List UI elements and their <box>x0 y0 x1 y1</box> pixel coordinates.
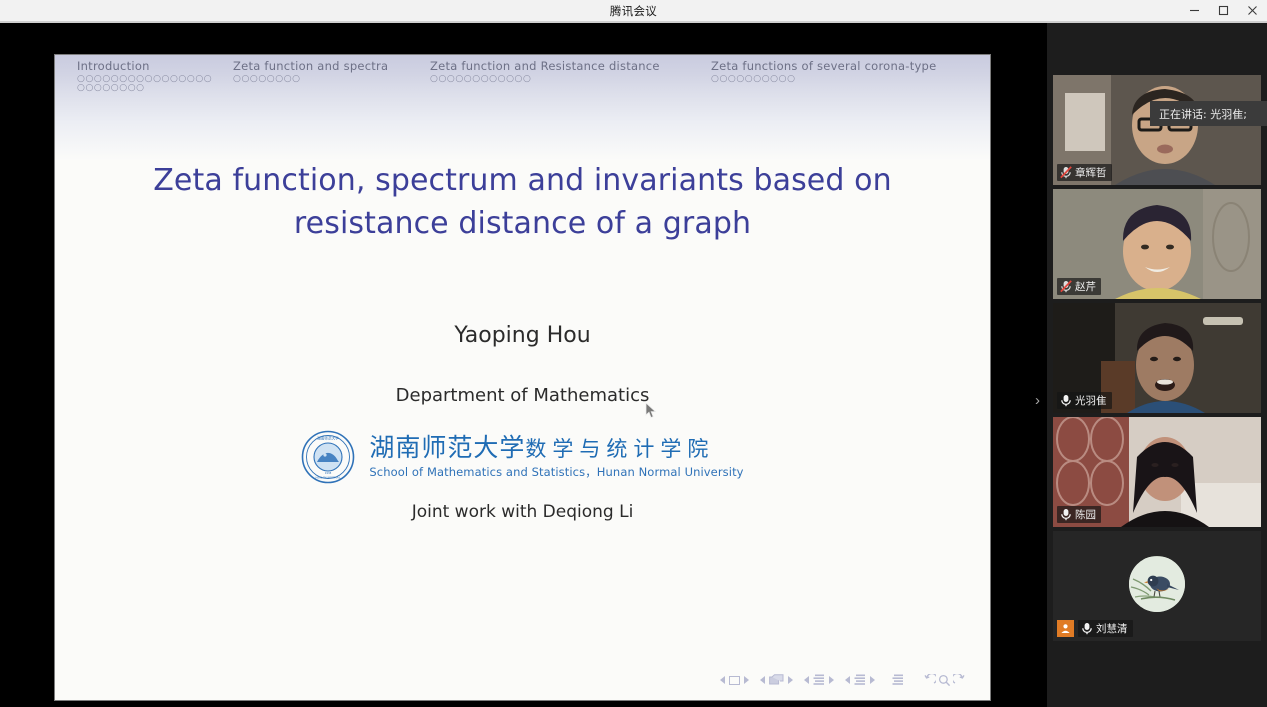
university-logo-text: 湖南师范大学数学与统计学院 School of Mathematics and … <box>369 435 743 480</box>
active-speaker-banner: 正在讲话: 光羽隹; <box>1150 101 1267 126</box>
mic-active-icon <box>1060 394 1072 407</box>
participant-name: 赵芹 <box>1075 279 1096 294</box>
slide-title: Zeta function, spectrum and invariants b… <box>55 160 990 245</box>
presentation-slide[interactable]: Introduction ○○○○○○○○○○○○○○○○ ○○○○○○○○ Z… <box>55 55 990 700</box>
window-title: 腾讯会议 <box>610 3 657 19</box>
nav-frame-group[interactable] <box>760 674 793 686</box>
mic-muted-icon <box>1060 280 1072 293</box>
participant-gallery: 章辉哲 <box>1047 23 1267 707</box>
participant-namebar: 赵芹 <box>1057 278 1101 295</box>
beamer-nav-symbols <box>720 670 966 690</box>
search-icon[interactable] <box>938 674 951 687</box>
mic-active-icon <box>1060 508 1072 521</box>
subsection-lines-icon[interactable] <box>813 674 825 687</box>
participant-name: 陈园 <box>1075 507 1096 522</box>
svg-text:HUNAN NORMAL: HUNAN NORMAL <box>316 476 341 480</box>
next-subsection-icon[interactable] <box>829 676 834 684</box>
university-name-cn: 湖南师范大学数学与统计学院 <box>369 435 743 460</box>
beamer-navigation-bar: Introduction ○○○○○○○○○○○○○○○○ ○○○○○○○○ Z… <box>55 55 990 92</box>
prev-section-icon[interactable] <box>845 676 850 684</box>
beamer-section-introduction[interactable]: Introduction ○○○○○○○○○○○○○○○○ ○○○○○○○○ <box>55 55 233 92</box>
host-badge-icon <box>1057 620 1074 637</box>
mic-muted-icon <box>1060 166 1072 179</box>
beamer-section-label: Zeta function and spectra <box>233 59 430 73</box>
participant-namebar: 章辉哲 <box>1057 164 1112 181</box>
participant-tile-active-speaker[interactable]: 光羽隹 <box>1053 303 1261 413</box>
university-seal-icon: 湖南师范大学 HUNAN NORMAL 1938 <box>301 430 355 484</box>
slide-joint-work: Joint work with Deqiong Li <box>55 502 990 522</box>
participant-tile[interactable]: 赵芹 <box>1053 189 1261 299</box>
nav-subsection-group[interactable] <box>804 674 834 687</box>
nav-section-group[interactable] <box>845 674 875 687</box>
frames-stack-icon[interactable] <box>769 674 784 686</box>
shared-screen-stage: Introduction ○○○○○○○○○○○○○○○○ ○○○○○○○○ Z… <box>0 23 1045 707</box>
mouse-cursor <box>645 403 659 419</box>
participant-tile[interactable]: 章辉哲 <box>1053 75 1261 185</box>
participant-namebar: 刘慧清 <box>1078 620 1133 637</box>
beamer-header-fade <box>55 92 990 160</box>
slide-author: Yaoping Hou <box>55 323 990 348</box>
beamer-section-zeta-resistance[interactable]: Zeta function and Resistance distance ○○… <box>430 55 711 92</box>
beamer-section-label: Zeta function and Resistance distance <box>430 59 711 73</box>
next-slide-icon[interactable] <box>744 676 749 684</box>
next-section-icon[interactable] <box>870 676 875 684</box>
participant-name: 刘慧清 <box>1096 621 1128 636</box>
nav-slide-group[interactable] <box>720 676 749 685</box>
active-speaker-label: 正在讲话: 光羽隹; <box>1159 106 1247 122</box>
window-titlebar: 腾讯会议 <box>0 0 1267 21</box>
participant-name: 章辉哲 <box>1075 165 1107 180</box>
participant-tile[interactable]: 刘慧清 <box>1053 531 1261 641</box>
beamer-section-label: Zeta functions of several corona-type <box>711 59 971 73</box>
participant-namebar: 陈园 <box>1057 506 1101 523</box>
university-school-name: 数学与统计学院 <box>525 437 714 461</box>
collapse-gallery-chevron-icon[interactable]: › <box>1030 388 1045 414</box>
close-button[interactable] <box>1238 0 1267 21</box>
forward-arrow-icon[interactable] <box>953 674 966 687</box>
beamer-section-dots: ○○○○○○○○○○○○ <box>430 75 711 84</box>
university-logo: 湖南师范大学 HUNAN NORMAL 1938 湖南师范大学数学与统计学院 S… <box>55 430 990 484</box>
svg-text:湖南师范大学: 湖南师范大学 <box>318 436 340 441</box>
slide-title-line-2: resistance distance of a graph <box>55 203 990 246</box>
participant-name: 光羽隹 <box>1075 393 1107 408</box>
minimize-button[interactable] <box>1180 0 1209 21</box>
bird-avatar-icon <box>1129 557 1185 612</box>
svg-text:1938: 1938 <box>325 471 332 475</box>
back-arrow-icon[interactable] <box>923 674 936 687</box>
window-controls <box>1180 0 1267 21</box>
next-frame-icon[interactable] <box>788 676 793 684</box>
section-lines-icon[interactable] <box>854 674 866 687</box>
nav-history-group[interactable] <box>923 674 966 687</box>
beamer-section-dots: ○○○○○○○○○○ <box>711 75 971 84</box>
beamer-section-dots: ○○○○○○○○ <box>233 75 430 84</box>
mic-active-icon <box>1081 622 1093 635</box>
beamer-section-zeta-spectra[interactable]: Zeta function and spectra ○○○○○○○○ <box>233 55 430 92</box>
prev-subsection-icon[interactable] <box>804 676 809 684</box>
beamer-section-label: Introduction <box>77 59 233 73</box>
tencent-meeting-window: 腾讯会议 Introduction ○○○○○○○○○○○○○○○○ ○○○○○… <box>0 0 1267 707</box>
university-name-en: School of Mathematics and Statistics，Hun… <box>369 464 743 480</box>
slide-department: Department of Mathematics <box>55 385 990 406</box>
document-lines-icon[interactable] <box>892 674 904 687</box>
slide-frame-icon[interactable] <box>729 676 740 685</box>
beamer-section-dots: ○○○○○○○○○○○○○○○○ ○○○○○○○○ <box>77 75 233 93</box>
university-name-main: 湖南师范大学 <box>369 433 525 462</box>
beamer-section-corona-type[interactable]: Zeta functions of several corona-type ○○… <box>711 55 971 92</box>
slide-title-line-1: Zeta function, spectrum and invariants b… <box>55 160 990 203</box>
avatar <box>1129 556 1185 612</box>
participant-namebar: 光羽隹 <box>1057 392 1112 409</box>
maximize-button[interactable] <box>1209 0 1238 21</box>
prev-frame-icon[interactable] <box>760 676 765 684</box>
prev-slide-icon[interactable] <box>720 676 725 684</box>
participant-tile[interactable]: 陈园 <box>1053 417 1261 527</box>
